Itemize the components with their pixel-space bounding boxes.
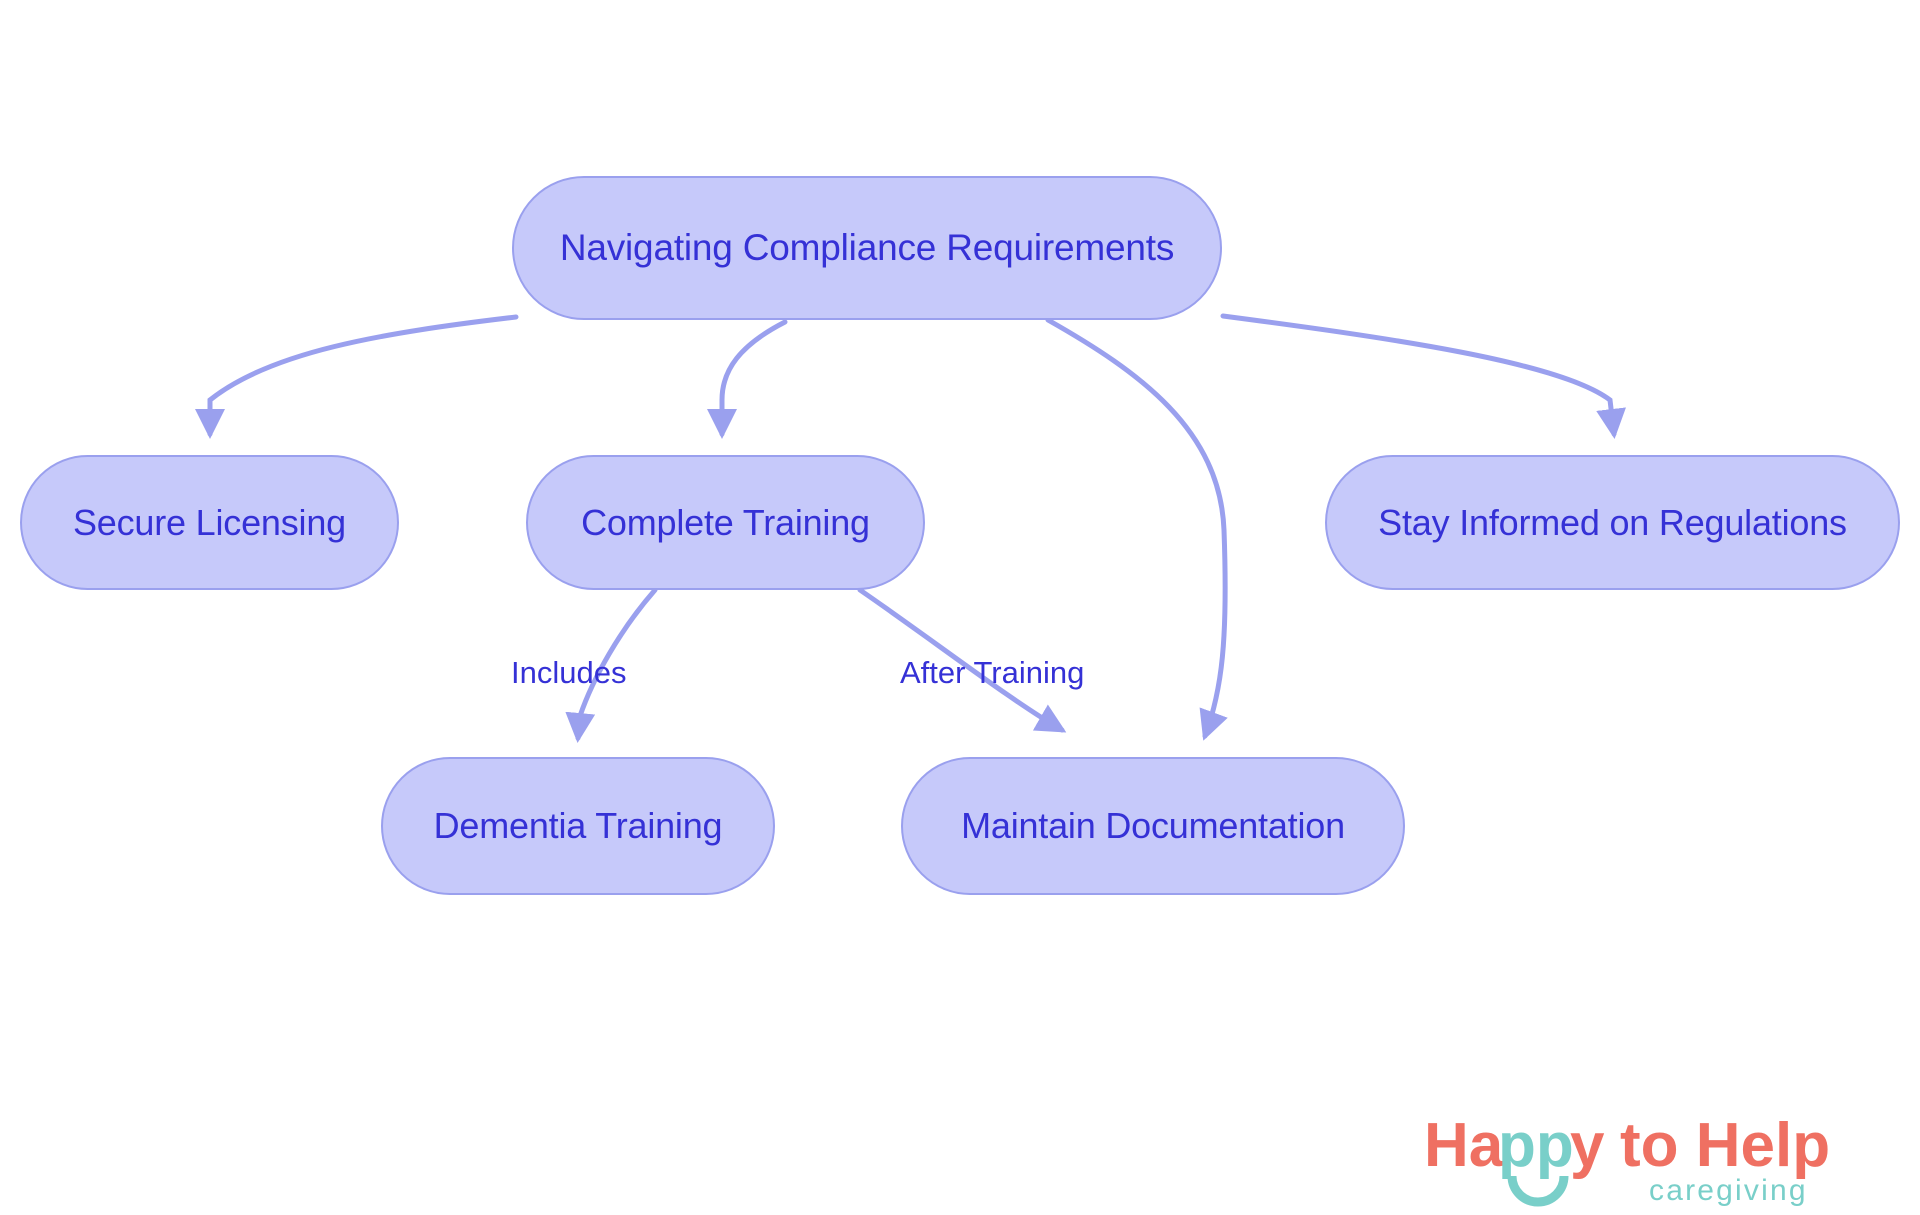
- node-label: Complete Training: [555, 503, 896, 543]
- node-dementia-training[interactable]: Dementia Training: [381, 757, 775, 895]
- node-label: Dementia Training: [408, 806, 749, 846]
- edge-label-after-training: After Training: [900, 655, 1084, 691]
- edge-root-to-stay-informed: [1223, 316, 1614, 434]
- node-label: Stay Informed on Regulations: [1352, 503, 1873, 543]
- logo-tagline: caregiving: [1649, 1174, 1808, 1207]
- node-label: Navigating Compliance Requirements: [534, 228, 1200, 269]
- diagram-canvas: Navigating Compliance Requirements Secur…: [0, 0, 1920, 1215]
- node-stay-informed-on-regulations[interactable]: Stay Informed on Regulations: [1325, 455, 1900, 590]
- node-complete-training[interactable]: Complete Training: [526, 455, 925, 590]
- node-label: Maintain Documentation: [935, 806, 1371, 846]
- happy-to-help-caregiving-logo: Ha pp y to Help caregiving: [1424, 1108, 1894, 1208]
- logo-text-y: y: [1570, 1111, 1605, 1180]
- node-secure-licensing[interactable]: Secure Licensing: [20, 455, 399, 590]
- edge-root-to-complete-training: [722, 322, 785, 434]
- node-label: Secure Licensing: [47, 503, 372, 543]
- edge-root-to-secure-licensing: [210, 317, 516, 434]
- node-maintain-documentation[interactable]: Maintain Documentation: [901, 757, 1405, 895]
- edge-label-includes: Includes: [511, 655, 626, 691]
- logo-text-pp: pp: [1498, 1111, 1574, 1180]
- node-navigating-compliance-requirements[interactable]: Navigating Compliance Requirements: [512, 176, 1222, 320]
- logo-text-to-help: to Help: [1620, 1111, 1830, 1180]
- logo-text-ha: Ha: [1424, 1111, 1504, 1180]
